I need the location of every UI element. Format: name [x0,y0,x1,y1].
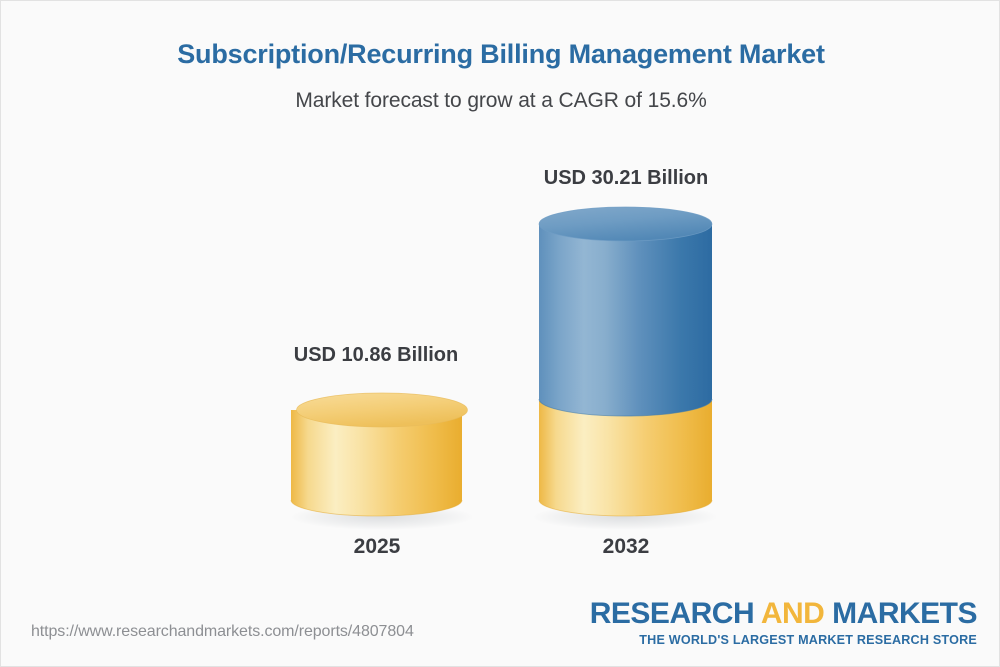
brand-tagline: THE WORLD'S LARGEST MARKET RESEARCH STOR… [590,634,977,647]
brand-wordmark: RESEARCH AND MARKETS [590,599,977,629]
bar-2025 [290,393,474,530]
brand-word-and: AND [761,597,825,630]
value-label-2025: USD 10.86 Billion [276,344,476,367]
brand-word-research: RESEARCH [590,597,761,630]
cylinder-bar-plot [1,1,1000,667]
bar-2032 [532,207,718,530]
category-label-2032: 2032 [546,535,706,559]
brand-word-markets: MARKETS [824,597,977,630]
chart-canvas: Subscription/Recurring Billing Managemen… [0,0,1000,667]
category-label-2025: 2025 [297,535,457,559]
brand-logo: RESEARCH AND MARKETS THE WORLD'S LARGEST… [590,599,977,647]
source-url[interactable]: https://www.researchandmarkets.com/repor… [31,623,414,641]
value-label-2032: USD 30.21 Billion [526,167,726,190]
